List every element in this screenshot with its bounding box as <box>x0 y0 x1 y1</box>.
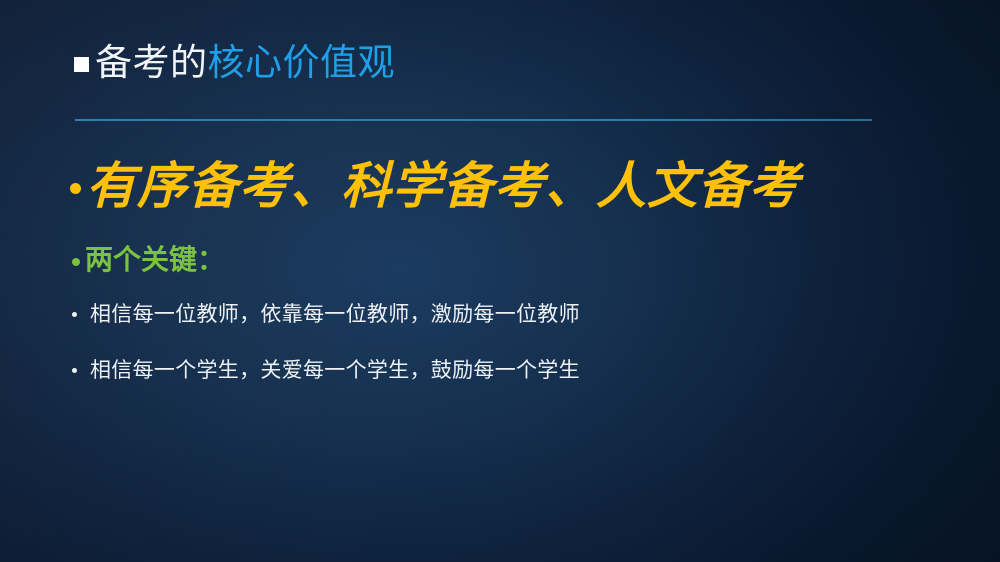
body-bullet-list: 相信每一位教师，依靠每一位教师，激励每一位教师 相信每一个学生，关爱每一个学生，… <box>72 300 932 413</box>
presentation-slide: 备考的核心价值观 有序备考、科学备考、人文备考 两个关键： 相信每一位教师，依靠… <box>0 0 1000 562</box>
list-item: 相信每一位教师，依靠每一位教师，激励每一位教师 <box>72 300 932 329</box>
subhead-text: 两个关键： <box>85 243 225 277</box>
slide-title: 备考的核心价值观 <box>74 42 395 85</box>
round-bullet-icon <box>70 183 81 194</box>
title-text-plain: 备考的 <box>95 42 208 83</box>
headline-row: 有序备考、科学备考、人文备考 <box>70 158 800 214</box>
list-item: 相信每一个学生，关爱每一个学生，鼓励每一个学生 <box>72 356 932 385</box>
dot-bullet-icon <box>72 312 77 317</box>
dot-bullet-icon <box>72 368 77 373</box>
title-text-accent: 核心价值观 <box>208 42 396 83</box>
subhead-row: 两个关键： <box>72 243 225 277</box>
title-text-group: 备考的核心价值观 <box>95 42 395 85</box>
round-bullet-icon <box>72 258 80 266</box>
square-bullet-icon <box>74 57 89 72</box>
title-divider <box>75 119 872 121</box>
list-item-label: 相信每一个学生，关爱每一个学生，鼓励每一个学生 <box>90 356 580 385</box>
headline-text: 有序备考、科学备考、人文备考 <box>86 158 800 214</box>
list-item-label: 相信每一位教师，依靠每一位教师，激励每一位教师 <box>90 300 580 329</box>
